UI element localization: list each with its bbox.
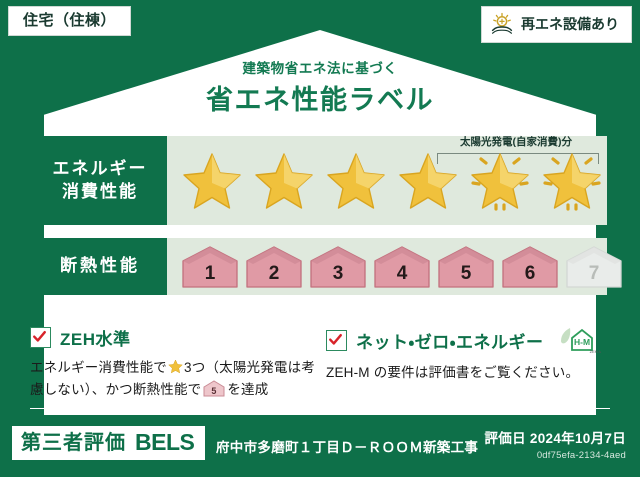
energy-label-card: 住宅（住棟） 再エネ設備あり 建築物省エネ法に基づく 省エネ性能ラベル xyxy=(0,0,640,477)
insulation-level-number: 7 xyxy=(565,263,623,285)
insulation-level-on: 3 xyxy=(309,245,367,289)
check-icon xyxy=(328,332,343,347)
insulation-scale-track: 1 2 3 4 5 6 7 xyxy=(167,238,607,295)
star-filled xyxy=(397,150,459,212)
star-filled xyxy=(253,150,315,212)
sun-icon xyxy=(490,12,514,36)
insulation-performance-row: 断熱性能 1 2 3 4 5 6 7 xyxy=(33,238,607,295)
nze-title: ネット・ゼロ・エネルギー xyxy=(356,328,544,353)
zeh-standard-section: ZEH水準 エネルギー消費性能で3つ（太陽光発電は考慮しない）、かつ断熱性能で5… xyxy=(30,325,320,401)
insulation-level-number: 2 xyxy=(245,263,303,285)
building-type-label: 住宅（住棟） xyxy=(23,12,116,29)
zeh-m-logo-text: H-M xyxy=(574,337,590,347)
zeh-m-logo-caption: ZEH-M xyxy=(589,349,600,354)
star-filled xyxy=(181,150,243,212)
evaluation-id: 0df75efa-2134-4aed xyxy=(484,450,626,461)
insulation-level-number: 5 xyxy=(437,263,495,285)
star-solar xyxy=(541,150,603,212)
bels-jp-label: 第三者評価 xyxy=(21,433,126,453)
zeh-desc-stars: 3つ xyxy=(184,360,205,375)
insulation-label-text: 断熱性能 xyxy=(60,255,140,278)
nze-checkbox[interactable] xyxy=(326,330,347,351)
insulation-level-off: 7 xyxy=(565,245,623,289)
star-rating xyxy=(167,136,607,225)
nze-description: ZEH-M の要件は評価書をご覧ください。 xyxy=(326,362,626,384)
nze-heading: ネット・ゼロ・エネルギー H-M ZEH-M xyxy=(326,325,626,355)
evaluation-info: 評価日 2024年10月7日 0df75efa-2134-4aed xyxy=(484,427,626,461)
inline-level-number: 5 xyxy=(212,386,217,396)
zeh-desc-part1: エネルギー消費性能で xyxy=(30,360,167,375)
energy-star-track: 太陽光発電(自家消費)分 xyxy=(167,136,607,225)
insulation-level-number: 4 xyxy=(373,263,431,285)
label-subtitle: 建築物省エネ法に基づく xyxy=(0,57,640,77)
insulation-level-on: 4 xyxy=(373,245,431,289)
insulation-level-inline-icon: 5 xyxy=(203,380,225,397)
evaluation-date: 評価日 2024年10月7日 xyxy=(484,427,626,447)
zeh-title: ZEH水準 xyxy=(60,325,131,350)
insulation-level-on: 5 xyxy=(437,245,495,289)
bels-certification-badge: 第三者評価 BELS xyxy=(12,426,205,460)
insulation-level-number: 3 xyxy=(309,263,367,285)
building-type-tag: 住宅（住棟） xyxy=(8,6,131,36)
property-address: 府中市多磨町１丁目Ｄ－ＲＯＯＭ新築工事 xyxy=(216,436,478,456)
insulation-level-scale: 1 2 3 4 5 6 7 xyxy=(167,238,607,295)
zeh-desc-part3: を達成 xyxy=(227,382,268,397)
energy-label-line2: 消費性能 xyxy=(62,181,138,204)
renewable-badge-label: 再エネ設備あり xyxy=(521,17,619,31)
insulation-level-on: 1 xyxy=(181,245,239,289)
energy-performance-label: エネルギー 消費性能 xyxy=(33,136,167,225)
zeh-heading: ZEH水準 xyxy=(30,325,320,350)
net-zero-energy-section: ネット・ゼロ・エネルギー H-M ZEH-M ZEH-M の要件は評価書をご覧く… xyxy=(326,325,626,384)
insulation-level-on: 2 xyxy=(245,245,303,289)
zeh-description: エネルギー消費性能で3つ（太陽光発電は考慮しない）、かつ断熱性能で5を達成 xyxy=(30,357,320,401)
star-icon xyxy=(168,359,183,374)
renewable-energy-badge: 再エネ設備あり xyxy=(481,6,632,43)
insulation-level-number: 6 xyxy=(501,263,559,285)
section-divider xyxy=(30,408,610,409)
insulation-performance-label: 断熱性能 xyxy=(33,238,167,295)
energy-label-line1: エネルギー xyxy=(53,158,148,181)
label-footer: 第三者評価 BELS 府中市多磨町１丁目Ｄ－ＲＯＯＭ新築工事 評価日 2024年… xyxy=(0,415,640,477)
insulation-level-on: 6 xyxy=(501,245,559,289)
star-solar xyxy=(469,150,531,212)
check-icon xyxy=(32,329,47,344)
label-title: 省エネ性能ラベル xyxy=(0,78,640,117)
zeh-m-logo-icon: H-M ZEH-M xyxy=(553,325,601,355)
insulation-level-number: 1 xyxy=(181,263,239,285)
energy-performance-row: エネルギー 消費性能 太陽光発電(自家消費)分 xyxy=(33,136,607,225)
zeh-checkbox[interactable] xyxy=(30,327,51,348)
bels-en-label: BELS xyxy=(135,431,194,454)
star-filled xyxy=(325,150,387,212)
